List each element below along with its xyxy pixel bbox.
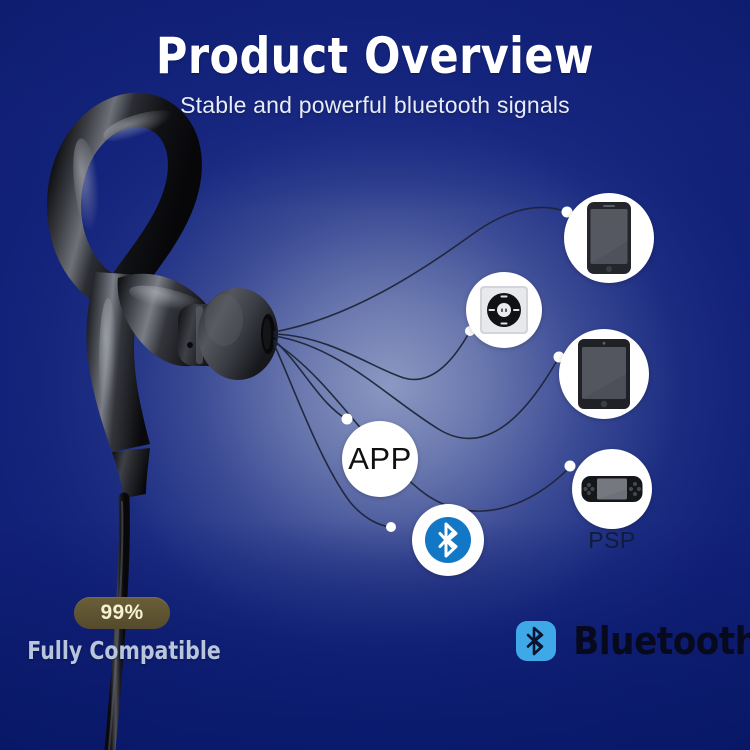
connector-dot-bluetooth — [386, 522, 396, 532]
mp3-player-icon — [479, 285, 529, 335]
device-label-psp: PSP — [552, 527, 672, 554]
bluetooth-word-text: Bluetooth — [573, 622, 750, 660]
connector-dot-app — [342, 414, 353, 425]
device-node-psp[interactable] — [572, 449, 652, 529]
connector-line-mp3-player — [274, 331, 470, 379]
connector-line-psp — [274, 342, 570, 511]
psp-console-icon — [581, 472, 643, 506]
device-node-mp3-player[interactable] — [466, 272, 542, 348]
connector-line-tablet — [274, 336, 559, 438]
bluetooth-circle-icon — [424, 516, 472, 564]
device-node-smartphone[interactable] — [564, 193, 654, 283]
bluetooth-rune-icon — [524, 626, 548, 656]
bluetooth-wordmark: Bluetooth — [516, 621, 750, 661]
percent-badge: 99% — [74, 597, 170, 629]
bluetooth-badge — [516, 621, 556, 661]
tablet-icon — [577, 338, 631, 410]
device-node-app[interactable]: APP — [342, 421, 418, 497]
product-overview-banner: Product Overview Stable and powerful blu… — [0, 0, 750, 750]
fully-compatible-label: Fully Compatible — [22, 636, 225, 665]
percent-badge-text: 99% — [101, 601, 144, 625]
app-label: APP — [348, 441, 412, 477]
device-node-bluetooth[interactable] — [412, 504, 484, 576]
connector-line-app — [274, 340, 347, 419]
connector-dot-psp — [565, 461, 576, 472]
smartphone-icon — [586, 201, 632, 275]
device-node-tablet[interactable] — [559, 329, 649, 419]
